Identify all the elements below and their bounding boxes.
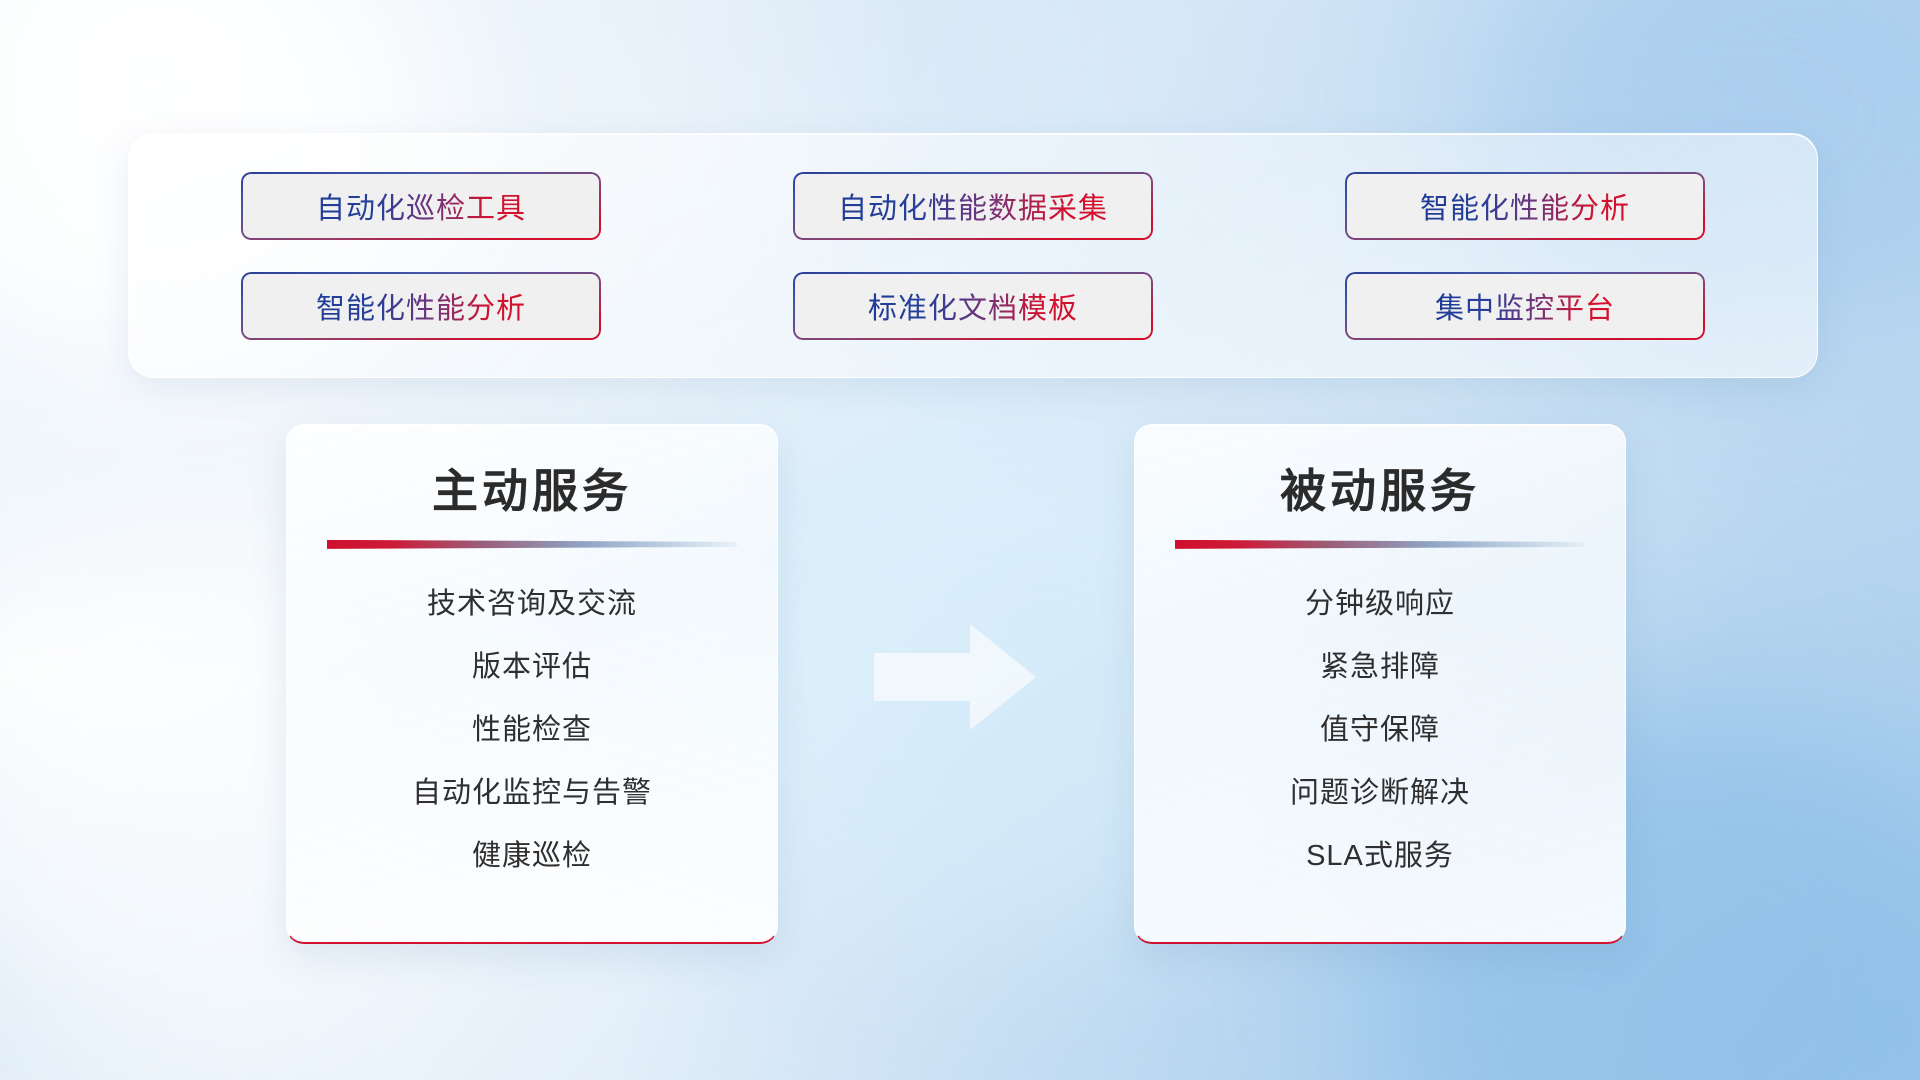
capability-tag-label: 自动化性能数据采集: [838, 185, 1108, 227]
service-card-reactive[interactable]: 被动服务 分钟级响应 紧急排障 值守保障 问题诊断解决 SLA式服务: [1134, 424, 1626, 944]
capability-tag-label: 自动化巡检工具: [316, 185, 526, 227]
capability-tag-label: 智能化性能分析: [316, 285, 526, 327]
service-item-list: 技术咨询及交流 版本评估 性能检查 自动化监控与告警 健康巡检: [327, 573, 737, 888]
capability-tag-1[interactable]: 自动化巡检工具: [241, 172, 601, 240]
card-title: 主动服务: [432, 465, 632, 518]
card-title: 被动服务: [1280, 465, 1480, 518]
capability-tag-label: 集中监控平台: [1435, 285, 1615, 327]
list-item: 性能检查: [472, 699, 592, 762]
list-item: 紧急排障: [1320, 636, 1440, 699]
capability-tag-label: 标准化文档模板: [868, 285, 1078, 327]
service-item-list: 分钟级响应 紧急排障 值守保障 问题诊断解决 SLA式服务: [1175, 573, 1585, 888]
capability-tag-grid: 自动化巡检工具 自动化性能数据采集 智能化性能分析 智能化性能分析 标准化文档模…: [199, 172, 1747, 340]
list-item: 值守保障: [1320, 699, 1440, 762]
list-item: SLA式服务: [1306, 825, 1454, 888]
right-arrow-icon: [874, 624, 1036, 730]
card-divider: [327, 540, 737, 549]
list-item: 技术咨询及交流: [427, 573, 637, 636]
list-item: 问题诊断解决: [1290, 762, 1470, 825]
capability-tag-3[interactable]: 智能化性能分析: [1345, 172, 1705, 240]
slide-canvas: 自动化巡检工具 自动化性能数据采集 智能化性能分析 智能化性能分析 标准化文档模…: [0, 0, 1920, 1080]
capability-tag-4[interactable]: 智能化性能分析: [241, 272, 601, 340]
service-card-proactive[interactable]: 主动服务 技术咨询及交流 版本评估 性能检查 自动化监控与告警 健康巡检: [286, 424, 778, 944]
capability-tag-label: 智能化性能分析: [1420, 185, 1630, 227]
card-divider: [1175, 540, 1585, 549]
capability-tag-2[interactable]: 自动化性能数据采集: [793, 172, 1153, 240]
list-item: 健康巡检: [472, 825, 592, 888]
capability-tag-6[interactable]: 集中监控平台: [1345, 272, 1705, 340]
capability-panel: 自动化巡检工具 自动化性能数据采集 智能化性能分析 智能化性能分析 标准化文档模…: [128, 133, 1818, 378]
list-item: 自动化监控与告警: [412, 762, 652, 825]
list-item: 版本评估: [472, 636, 592, 699]
capability-tag-5[interactable]: 标准化文档模板: [793, 272, 1153, 340]
list-item: 分钟级响应: [1305, 573, 1455, 636]
